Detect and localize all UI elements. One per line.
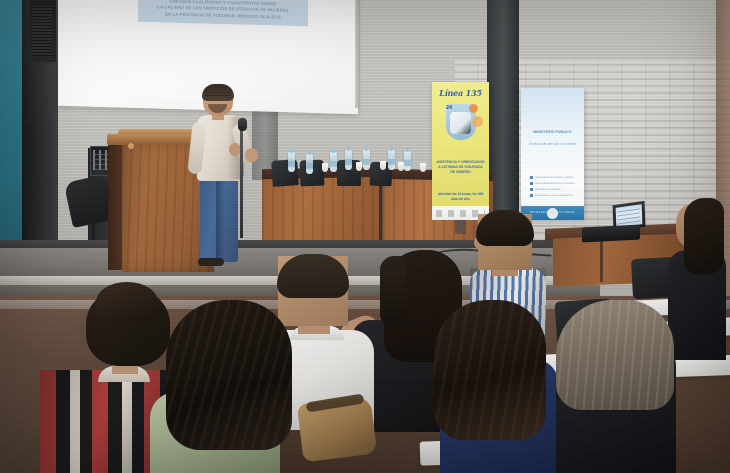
photo-vignette <box>0 0 730 473</box>
auditorium-presentation-photo: ENFOQUE CUALITATIVO Y CUANTITATIVO SOBRE… <box>0 0 730 473</box>
